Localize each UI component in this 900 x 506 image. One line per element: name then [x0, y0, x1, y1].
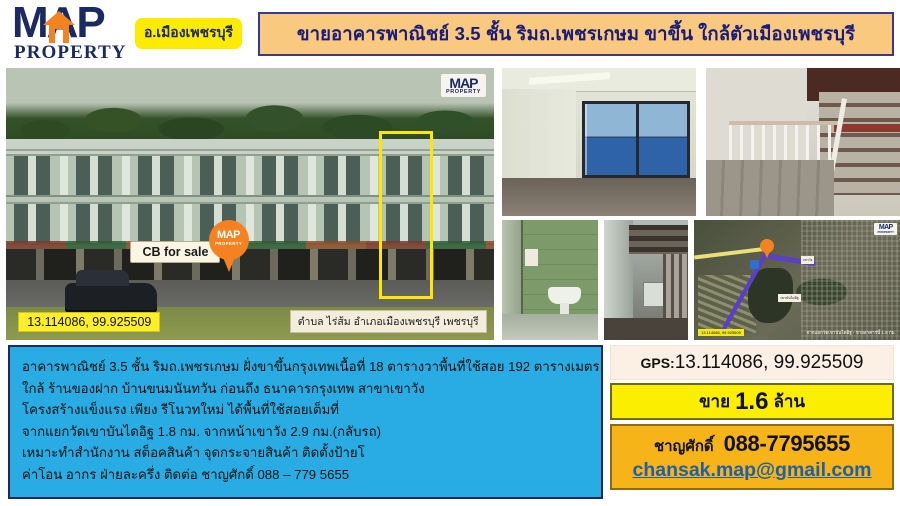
- page-title: ขายอาคารพาณิชย์ 3.5 ชั้น ริมถ.เพชรเกษม ข…: [297, 20, 855, 49]
- price-prefix: ขาย: [699, 388, 730, 415]
- hall-ceiling-beams: [629, 225, 688, 254]
- watermark-subtitle: PROPERTY: [446, 90, 481, 96]
- stair-balustrade: [729, 121, 838, 159]
- contact-name: ชาญศักดิ์: [654, 434, 714, 458]
- logo-mark: MAP: [12, 4, 138, 44]
- contact-email-link[interactable]: chansak.map@gmail.com: [612, 459, 892, 482]
- logo-subtitle: PROPERTY: [14, 42, 127, 64]
- description-panel: อาคารพาณิชย์ 3.5 ชั้น ริมถ.เพชรเกษม ฝั่ง…: [8, 345, 603, 499]
- map-label-one: เขาวัง: [801, 256, 814, 264]
- street-front-photo[interactable]: CB for sale 13.114086, 99.925509 ตำบล ไร…: [6, 68, 494, 340]
- hall-window: [643, 282, 665, 306]
- map-pin-marker-icon: MAP PROPERTY: [209, 220, 249, 272]
- description-line: ค่าโอน อากร ฝ่ายละครึ่ง ติดต่อ ชาญศักดิ์…: [22, 464, 591, 486]
- contact-box: ชาญศักดิ์ 088-7795655 chansak.map@gmail.…: [610, 424, 894, 490]
- map-distance-label: จากแยกวัดเขาบันไดอิฐ - ขายอาคารนี้ 1.8 ก…: [807, 329, 896, 336]
- parked-car: [65, 283, 158, 313]
- description-line: ใกล้ ร้านของฝาก บ้านขนมนันทวัน ก่อนถึง ธ…: [22, 378, 591, 400]
- photo-location-strip: ตำบล ไร่ส้ม อำเภอเมืองเพชรบุรี เพชรบุรี: [290, 310, 487, 333]
- price-box: ขาย 1.6 ล้าน: [610, 383, 894, 420]
- gps-value: 13.114086, 99.925509: [675, 352, 864, 374]
- photo-gps-strip: 13.114086, 99.925509: [18, 312, 160, 332]
- contact-phone[interactable]: 088-7795655: [724, 431, 850, 457]
- photo-watermark: MAP PROPERTY: [441, 74, 486, 97]
- map-label-two: เขาบันไดอิฐ: [778, 294, 800, 302]
- price-suffix: ล้าน: [773, 388, 805, 415]
- title-banner: ขายอาคารพาณิชย์ 3.5 ชั้น ริมถ.เพชรเกษม ข…: [258, 12, 894, 56]
- bathroom-photo[interactable]: [502, 220, 598, 340]
- bath-wall-sign: [525, 249, 537, 266]
- gps-box: GPS: 13.114086, 99.925509: [610, 345, 894, 380]
- staircase-photo[interactable]: [706, 68, 900, 216]
- flyer-page: MAP PROPERTY อ.เมืองเพชรบุรี ขายอาคารพาณ…: [0, 0, 900, 506]
- contact-row: ชาญศักดิ์ 088-7795655: [612, 431, 892, 458]
- map-watermark-subtitle: PROPERTY: [877, 231, 894, 234]
- gps-label: GPS:: [640, 355, 674, 371]
- stairwell-hall-photo[interactable]: [604, 220, 688, 340]
- stairs-red-band: [834, 124, 900, 131]
- price-number: 1.6: [735, 388, 768, 416]
- map-property-logo: MAP PROPERTY: [12, 4, 138, 62]
- photo-grid: CB for sale 13.114086, 99.925509 ตำบล ไร…: [6, 68, 894, 340]
- window-mullion: [636, 104, 639, 175]
- pin-sublabel: PROPERTY: [209, 241, 249, 246]
- map-watermark: MAP PROPERTY: [874, 223, 897, 235]
- description-line: อาคารพาณิชย์ 3.5 ชั้น ริมถ.เพชรเกษม ฝั่ง…: [22, 356, 591, 378]
- cb-for-sale-label: CB for sale: [130, 241, 220, 263]
- unit-highlight-box: [379, 131, 433, 300]
- watermark-letters: MAP: [446, 76, 481, 90]
- room-window: [582, 101, 691, 178]
- room-floor: [502, 178, 696, 216]
- map-pin-icon: [760, 239, 774, 258]
- map-blue-marker-icon: [750, 260, 759, 269]
- hall-floor: [604, 318, 688, 340]
- district-tag: อ.เมืองเพชรบุรี: [135, 18, 242, 49]
- map-pin-head: [760, 239, 774, 253]
- description-line: โครงสร้างแข็งแรง เพียง รีโนวทใหม่ ได้พื้…: [22, 399, 591, 421]
- room-left-wall: [502, 89, 576, 190]
- satellite-map-photo[interactable]: เขาวัง เขาบันไดอิฐ 13.114086, 99.925509 …: [694, 220, 900, 340]
- house-icon: [42, 10, 76, 43]
- pin-label: MAP: [209, 229, 249, 241]
- bath-sink: [548, 287, 581, 304]
- header: MAP PROPERTY อ.เมืองเพชรบุรี ขายอาคารพาณ…: [0, 0, 900, 66]
- map-urban-area: [801, 220, 900, 340]
- description-line: จากแยกวัดเขาบันไดอิฐ 1.8 กม. จากหน้าเขาว…: [22, 421, 591, 443]
- hall-railing: [663, 254, 688, 326]
- map-gps-strip: 13.114086, 99.925509: [698, 329, 744, 336]
- stairs-floor: [706, 160, 834, 216]
- contact-panel: GPS: 13.114086, 99.925509 ขาย 1.6 ล้าน ช…: [610, 345, 894, 499]
- bath-floor: [502, 314, 598, 340]
- description-line: เหมาะทำสำนักงาน สต็อคสินค้า จุดกระจายสิน…: [22, 442, 591, 464]
- interior-room-photo[interactable]: [502, 68, 696, 216]
